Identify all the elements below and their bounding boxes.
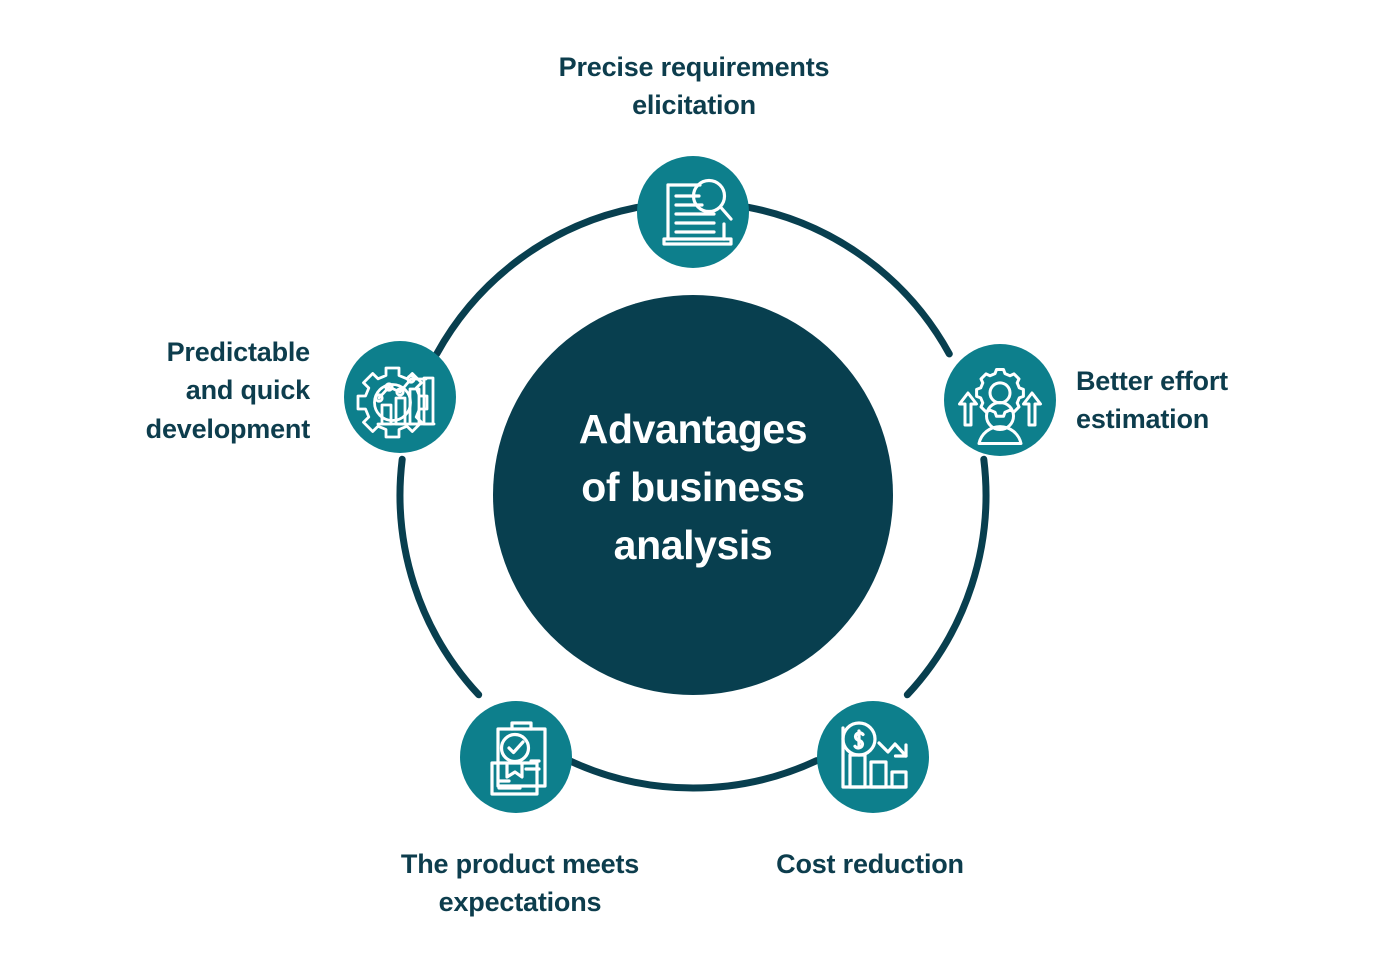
node-cost-reduction[interactable] bbox=[817, 701, 929, 813]
node-precise-requirements-elicitation[interactable] bbox=[637, 156, 749, 268]
ring-arc-bottom bbox=[569, 761, 817, 788]
center-title: Advantages of business analysis bbox=[493, 400, 893, 575]
label-predictable-quick-development: Predictable and quick development bbox=[20, 333, 310, 448]
ring-arc-bottom-left bbox=[400, 459, 479, 695]
label-cost-reduction: Cost reduction bbox=[700, 845, 1040, 883]
label-product-meets-expectations: The product meets expectations bbox=[320, 845, 720, 922]
node-circle-top[interactable] bbox=[637, 156, 749, 268]
label-precise-requirements-elicitation: Precise requirements elicitation bbox=[474, 48, 914, 125]
node-circle-bottom-right[interactable] bbox=[817, 701, 929, 813]
node-better-effort-estimation[interactable] bbox=[944, 344, 1056, 456]
ring-arc-right-bottom bbox=[907, 459, 986, 695]
node-circle-bottom-left[interactable] bbox=[460, 701, 572, 813]
node-product-meets-expectations[interactable] bbox=[460, 701, 572, 813]
label-better-effort-estimation: Better effort estimation bbox=[1076, 362, 1366, 439]
diagram-canvas: Advantages of business analysis Precise … bbox=[0, 0, 1388, 968]
node-predictable-quick-development[interactable] bbox=[344, 341, 456, 453]
